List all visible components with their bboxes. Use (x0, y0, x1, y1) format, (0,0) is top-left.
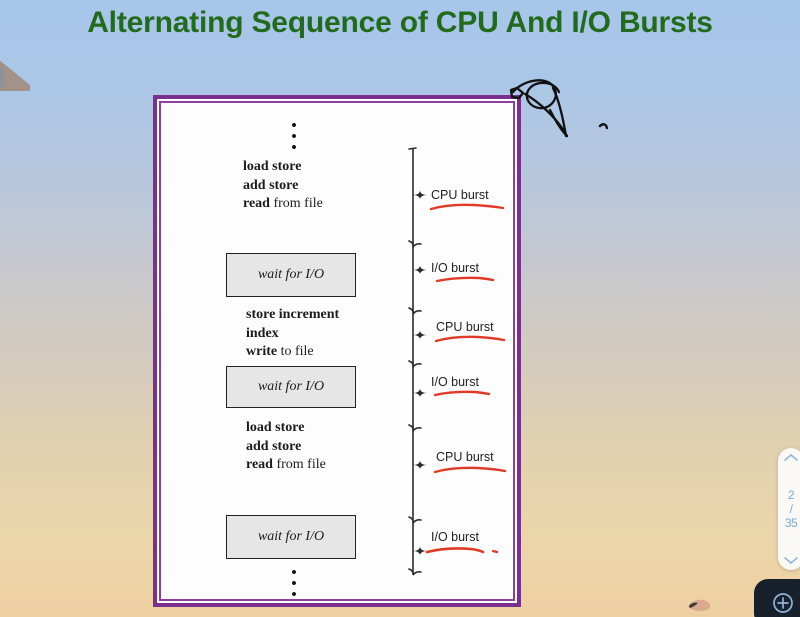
zoom-in-icon (771, 591, 795, 615)
code-block-2: store increment index write to file (246, 306, 339, 362)
page-counter: 2 / 35 (785, 488, 797, 530)
burst-label-3: CPU burst (436, 320, 494, 334)
code-line: store increment (246, 306, 339, 325)
red-underline (433, 390, 491, 399)
red-underline (429, 203, 505, 212)
red-underline (433, 466, 507, 475)
code-line: load store (243, 158, 323, 177)
code-line: load store (246, 419, 326, 438)
top-ellipsis: ••• (289, 121, 299, 154)
bottom-ellipsis: ••• (289, 568, 299, 601)
red-underline (425, 546, 503, 557)
wait-for-io-label: wait for I/O (258, 529, 324, 545)
code-block-1: load store add store read from file (243, 158, 323, 214)
code-line: add store (246, 438, 326, 457)
zoom-in-button[interactable] (754, 579, 800, 617)
burst-label-6: I/O burst (431, 530, 479, 544)
diagram-inner-border: ••• load store add store read from file … (159, 101, 515, 601)
code-line: read from file (243, 195, 323, 214)
page-separator: / (785, 502, 797, 516)
burst-label-2: I/O burst (431, 261, 479, 275)
current-page-number: 2 (788, 488, 794, 502)
wait-for-io-label: wait for I/O (258, 267, 324, 283)
code-line: index (246, 325, 339, 344)
hand-cursor-icon (686, 597, 712, 613)
burst-label-1: CPU burst (431, 188, 489, 202)
ink-scribble-annotation (505, 74, 625, 146)
wait-for-io-box-1: wait for I/O (226, 253, 356, 297)
brace-column (405, 145, 431, 577)
diagram-canvas: ••• load store add store read from file … (161, 103, 513, 599)
total-page-number: 35 (785, 516, 797, 530)
page-title: Alternating Sequence of CPU And I/O Burs… (0, 6, 800, 40)
page-navigator[interactable]: 2 / 35 (778, 448, 800, 570)
diagram-frame[interactable]: ••• load store add store read from file … (153, 95, 521, 607)
slide-viewer-screen: Alternating Sequence of CPU And I/O Burs… (0, 0, 800, 617)
wait-for-io-label: wait for I/O (258, 379, 324, 395)
wait-for-io-box-2: wait for I/O (226, 366, 356, 408)
decorative-wedge-shape (0, 57, 40, 95)
code-line: write to file (246, 343, 339, 362)
wait-for-io-box-3: wait for I/O (226, 515, 356, 559)
chevron-down-icon[interactable] (783, 555, 799, 565)
burst-label-4: I/O burst (431, 375, 479, 389)
code-line: read from file (246, 456, 326, 475)
red-underline (435, 276, 495, 285)
red-underline (434, 335, 506, 344)
chevron-up-icon[interactable] (783, 453, 799, 463)
code-line: add store (243, 177, 323, 196)
burst-label-5: CPU burst (436, 450, 494, 464)
code-block-3: load store add store read from file (246, 419, 326, 475)
